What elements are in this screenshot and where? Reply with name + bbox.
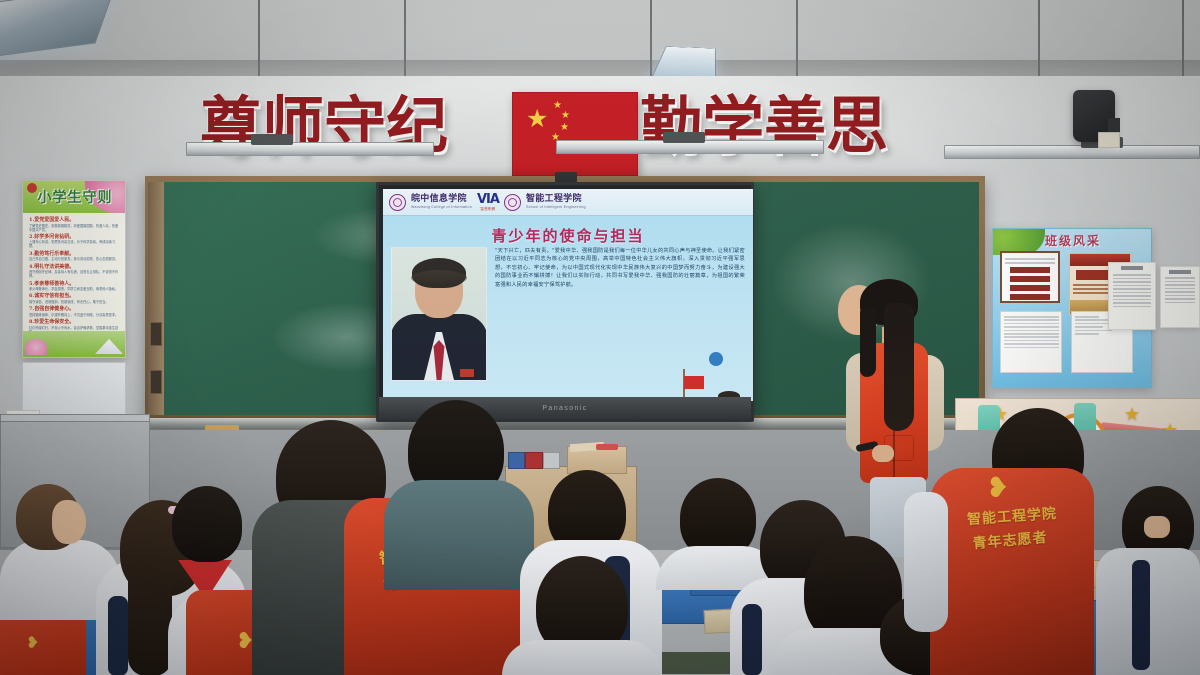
flag-big-star: ★ <box>526 107 548 132</box>
via-sub-label: 智慧职教 <box>477 207 499 212</box>
speaker-plate <box>1098 132 1120 148</box>
poster-student-code: 小学生守则 1.爱党爱国爱人民。了解党史国史，崇敬英雄模范，珍爱国旗国徽，热爱人… <box>22 180 126 358</box>
poster-lower-panel <box>22 362 126 416</box>
lapel-badge-icon <box>460 369 474 377</box>
hanging-light-bar <box>944 145 1200 159</box>
org-left-name-cn: 皖中信息学院 <box>411 195 472 204</box>
interactive-display[interactable]: 皖中信息学院 Wanzhong College of Information V… <box>376 182 754 422</box>
book-stack <box>508 452 560 469</box>
org-right-name-en: School of Intelligent Engineering <box>526 205 586 209</box>
presenter-hand <box>872 445 894 462</box>
hanging-light-bar <box>556 140 824 154</box>
schedule-item <box>1000 311 1062 373</box>
speaker-bracket <box>1108 118 1120 132</box>
student-uniform-stripe <box>742 604 762 675</box>
student-head <box>172 486 242 562</box>
volunteer-heart-hand-icon: ❥ <box>986 474 1009 502</box>
mini-flag-icon <box>684 376 704 389</box>
blackboard-rail-vent <box>150 322 162 346</box>
student-uniform-stripe <box>1132 560 1150 670</box>
blackboard-rail-vent <box>150 370 162 394</box>
org-right-name-cn: 智能工程学院 <box>526 195 586 204</box>
slide-title: 青少年的使命与担当 <box>383 225 753 246</box>
slide-view: 皖中信息学院 Wanzhong College of Information V… <box>383 189 753 401</box>
student-hoodie <box>384 480 534 590</box>
list-item: 2.好学多问肯钻研。上课专心听讲，勤思多问善交流，乐于科学探索，养成阅读习惯。 <box>29 235 119 249</box>
student-face <box>52 500 86 544</box>
slide-illustration <box>677 353 749 399</box>
student-uniform-stripe <box>108 596 128 675</box>
display-brand-label: Panasonic <box>542 405 587 412</box>
volunteer-vest-right <box>930 468 1094 675</box>
wall-sheet-schedule <box>1108 262 1156 330</box>
box-contents <box>596 444 618 450</box>
balloon-icon <box>709 352 723 366</box>
list-item: 1.爱党爱国爱人民。了解党史国史，崇敬英雄模范，珍爱国旗国徽，热爱人民，热爱中国… <box>29 218 119 232</box>
flag-small-star: ★ <box>560 123 569 133</box>
national-flag-emblem: ★ ★ ★ ★ ★ <box>512 92 638 176</box>
list-item: 6.诚实守信有担当。保守诚信，说到做到，知错就改，有责任心，敢于担当。 <box>29 294 119 304</box>
poster-rule-list: 1.爱党爱国爱人民。了解党史国史，崇敬英雄模范，珍爱国旗国徽，热爱人民，热爱中国… <box>23 213 125 347</box>
flag-small-star: ★ <box>561 111 570 121</box>
list-item: 4.明礼守法讲美德。遵守规则守纪律，友善待人有礼貌，自觉礼让排队，不说谎不作弊。 <box>29 265 119 279</box>
wall-slogan-right: 勤学善思 <box>640 84 888 168</box>
list-item: 3.勤劳笃行乐奉献。自己事自己做，主动分担家务，参与劳动实践，热心志愿服务。 <box>29 252 119 262</box>
student-ponytail <box>128 556 172 675</box>
leader-portrait-image <box>391 247 487 381</box>
class-showcase-title: 班级风采 <box>993 232 1152 249</box>
student-shoulders <box>502 640 662 675</box>
poster-footer-band <box>23 331 126 357</box>
wall-sheet-notice <box>1160 266 1200 328</box>
star-badge: ★ <box>1124 405 1140 423</box>
poster-title: 小学生守则 <box>23 187 126 207</box>
school-seal-icon <box>504 194 521 211</box>
college-seal-icon <box>389 194 406 211</box>
via-mark: VIA <box>477 192 499 207</box>
classroom-scene: 尊师守纪 ★ ★ ★ ★ ★ 勤学善思 小学生守则 1.爱党爱国爱人民。了解党史… <box>0 0 1200 675</box>
volunteer-heart-hand-icon: ❥ <box>26 636 39 652</box>
certificate-item <box>1000 251 1060 303</box>
student-hand <box>1144 516 1170 538</box>
org-left-name-en: Wanzhong College of Information <box>411 205 472 209</box>
list-item: 7.自强自律健身心。坚持锻炼身体，乐观开朗向上，不沉迷于网络，分清善恶是非。 <box>29 307 119 317</box>
hanging-light-bar <box>186 142 434 156</box>
wall-cabinet <box>0 414 150 422</box>
list-item: 5.孝亲尊师善待人。孝父母敬师长，学会感恩，同学之间友爱互助，尊重他人隐私。 <box>29 282 119 292</box>
slide-header: 皖中信息学院 Wanzhong College of Information V… <box>383 189 753 216</box>
